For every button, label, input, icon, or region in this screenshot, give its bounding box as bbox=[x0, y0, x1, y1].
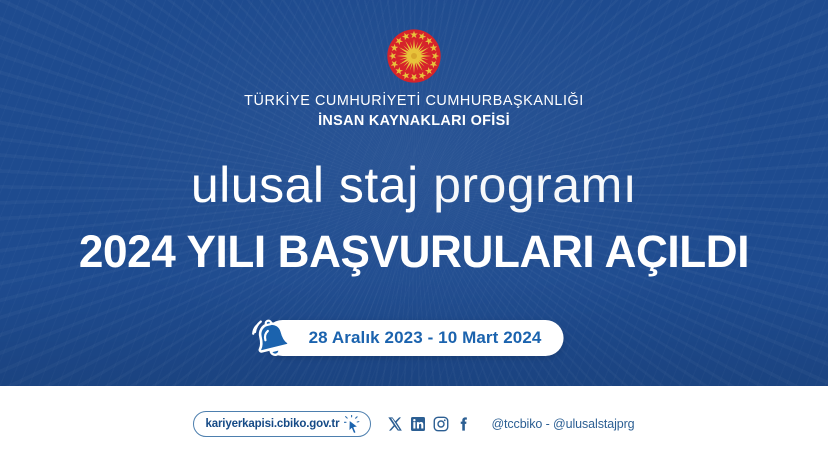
emblem-container bbox=[0, 27, 828, 85]
institution-heading: TÜRKİYE CUMHURİYETİ CUMHURBAŞKANLIĞI İNS… bbox=[0, 92, 828, 131]
date-range-badge: 28 Aralık 2023 - 10 Mart 2024 bbox=[265, 320, 564, 356]
footer-bar: kariyerkapisi.cbiko.gov.tr bbox=[0, 386, 828, 462]
program-title: ulusal staj programı bbox=[0, 160, 828, 210]
poster-root: TÜRKİYE CUMHURİYETİ CUMHURBAŞKANLIĞI İNS… bbox=[0, 0, 828, 462]
social-handles: @tccbiko - @ulusalstajprg bbox=[491, 417, 634, 431]
instagram-icon[interactable] bbox=[433, 416, 449, 432]
facebook-icon[interactable] bbox=[456, 416, 472, 432]
hero-banner: TÜRKİYE CUMHURİYETİ CUMHURBAŞKANLIĞI İNS… bbox=[0, 0, 828, 386]
click-cursor-icon bbox=[344, 415, 361, 434]
program-title-primary: ulusal staj bbox=[191, 157, 433, 213]
program-title-secondary: programı bbox=[433, 157, 637, 213]
institution-line-2: İNSAN KAYNAKLARI OFİSİ bbox=[0, 112, 828, 131]
x-twitter-icon[interactable] bbox=[387, 416, 403, 432]
social-links bbox=[387, 416, 472, 432]
bell-icon bbox=[249, 316, 297, 362]
date-range-text: 28 Aralık 2023 - 10 Mart 2024 bbox=[309, 328, 542, 348]
presidency-seal-icon bbox=[385, 27, 443, 85]
website-url-text: kariyerkapisi.cbiko.gov.tr bbox=[205, 418, 339, 430]
institution-line-1: TÜRKİYE CUMHURİYETİ CUMHURBAŞKANLIĞI bbox=[0, 92, 828, 111]
website-url-button[interactable]: kariyerkapisi.cbiko.gov.tr bbox=[193, 411, 371, 437]
linkedin-icon[interactable] bbox=[410, 416, 426, 432]
announcement-headline: 2024 YILI BAŞVURULARI AÇILDI bbox=[8, 225, 819, 278]
